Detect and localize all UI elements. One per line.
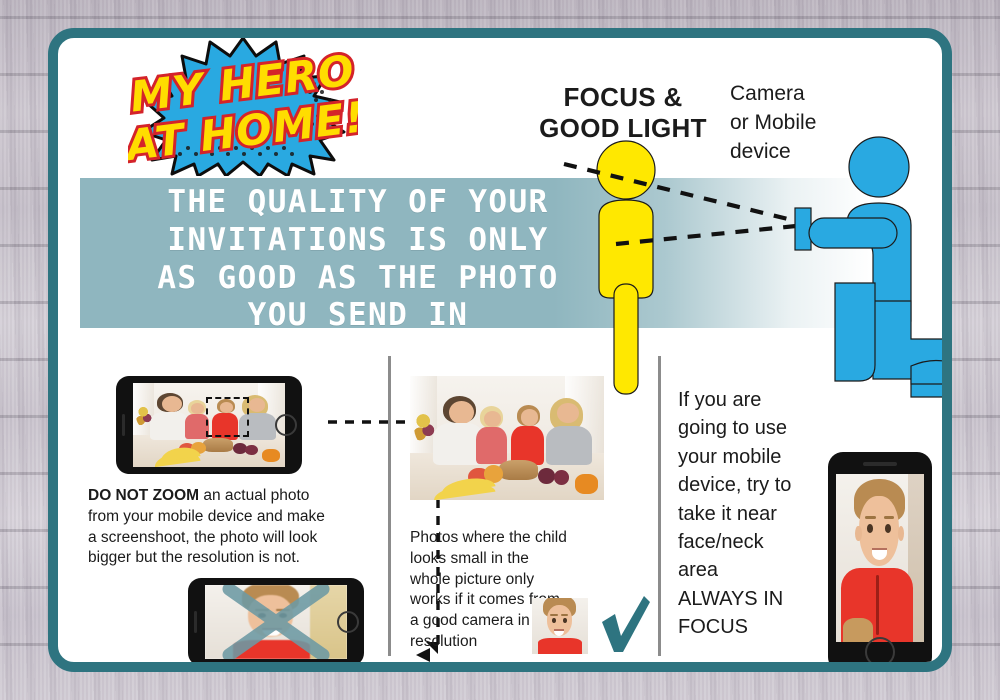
- check-mark-icon: [596, 594, 652, 656]
- photographer-head: [849, 137, 909, 197]
- family-photo-image: [133, 383, 285, 467]
- closeup-photo-image: [836, 474, 924, 642]
- caption-line9: FOCUS: [678, 613, 818, 641]
- do-not-zoom-caption: DO NOT ZOOM an actual photo from your mo…: [88, 486, 328, 569]
- phone-closeup-photo: [828, 452, 932, 672]
- caption-line8: ALWAYS IN: [678, 585, 818, 613]
- panel-do-not-zoom: DO NOT ZOOM an actual photo from your mo…: [78, 356, 384, 656]
- caption-line6: face/neck: [678, 528, 818, 556]
- good-closeup-thumbnail: [532, 598, 588, 654]
- my-hero-at-home-logo: MY HERO AT HOME!: [128, 36, 358, 176]
- panel-divider-right: [658, 356, 661, 656]
- caption-line2: going to use: [678, 414, 818, 442]
- wide-family-photo: [410, 376, 604, 500]
- phone-family-photo: [116, 376, 302, 474]
- panel-mobile-closeup: If you are going to use your mobile devi…: [664, 356, 944, 656]
- panel-whole-picture: Photos where the child looks small in th…: [394, 356, 652, 656]
- zoom-selection-box: [206, 397, 250, 437]
- caption-line1: If you are: [678, 386, 818, 414]
- do-not-zoom-emphasis: DO NOT ZOOM: [88, 487, 199, 504]
- phone-zoomed-photo: [188, 578, 364, 666]
- caption-line7: area: [678, 556, 818, 584]
- caption-line4: device, try to: [678, 471, 818, 499]
- mobile-closeup-caption: If you are going to use your mobile devi…: [678, 386, 818, 642]
- caption-line3: your mobile: [678, 443, 818, 471]
- photo-shoot-illustration: [498, 98, 952, 398]
- camera-device: [795, 208, 811, 250]
- x-mark-icon: [205, 585, 347, 659]
- infographic-card: MY HERO AT HOME! FOCUS & GOOD LIGHT Came…: [48, 28, 952, 672]
- caption-line5: take it near: [678, 500, 818, 528]
- photographer-arm: [809, 218, 897, 248]
